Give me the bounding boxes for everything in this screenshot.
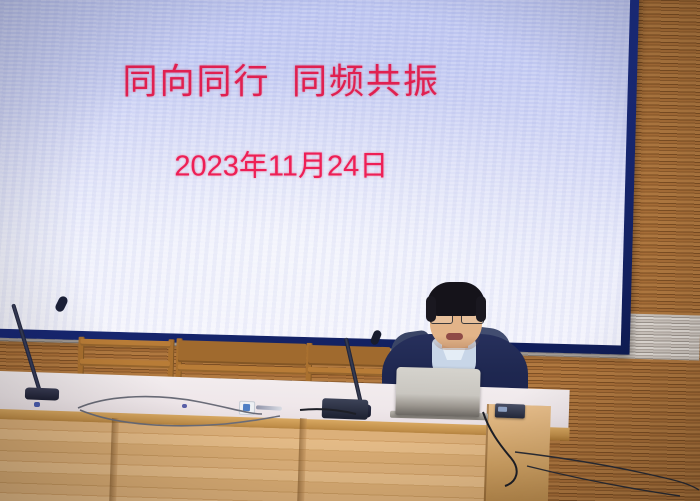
chair-rail-mid <box>308 367 390 376</box>
chair-rail-mid <box>80 359 170 369</box>
small-marker <box>34 402 40 407</box>
laptop[interactable] <box>395 367 480 417</box>
presenter-clicker[interactable] <box>239 401 255 416</box>
projected-slide: 同向同行 同频共振 2023年11月24日 <box>0 0 631 346</box>
chair-rail-top <box>178 340 307 366</box>
slide-date: 2023年11月24日 <box>0 142 627 184</box>
cable-hub <box>322 398 369 420</box>
projection-screen: 同向同行 同频共振 2023年11月24日 <box>0 0 640 355</box>
slide-title: 同向同行 同频共振 <box>0 53 627 104</box>
slide-text-block: 同向同行 同频共振 2023年11月24日 <box>0 53 627 184</box>
remote-control[interactable] <box>495 403 525 418</box>
conference-photo: 同向同行 同频共振 2023年11月24日 <box>0 0 700 501</box>
hair-side-right <box>476 296 486 322</box>
mouth <box>446 333 463 340</box>
chair-rail-top <box>80 339 170 349</box>
chair-rail-mid <box>178 364 306 375</box>
screen-frame: 同向同行 同频共振 2023年11月24日 <box>0 0 640 355</box>
microphone-base[interactable] <box>25 387 59 400</box>
podium-right-end <box>484 404 551 501</box>
hair-side-left <box>426 296 436 322</box>
small-marker <box>182 404 187 408</box>
